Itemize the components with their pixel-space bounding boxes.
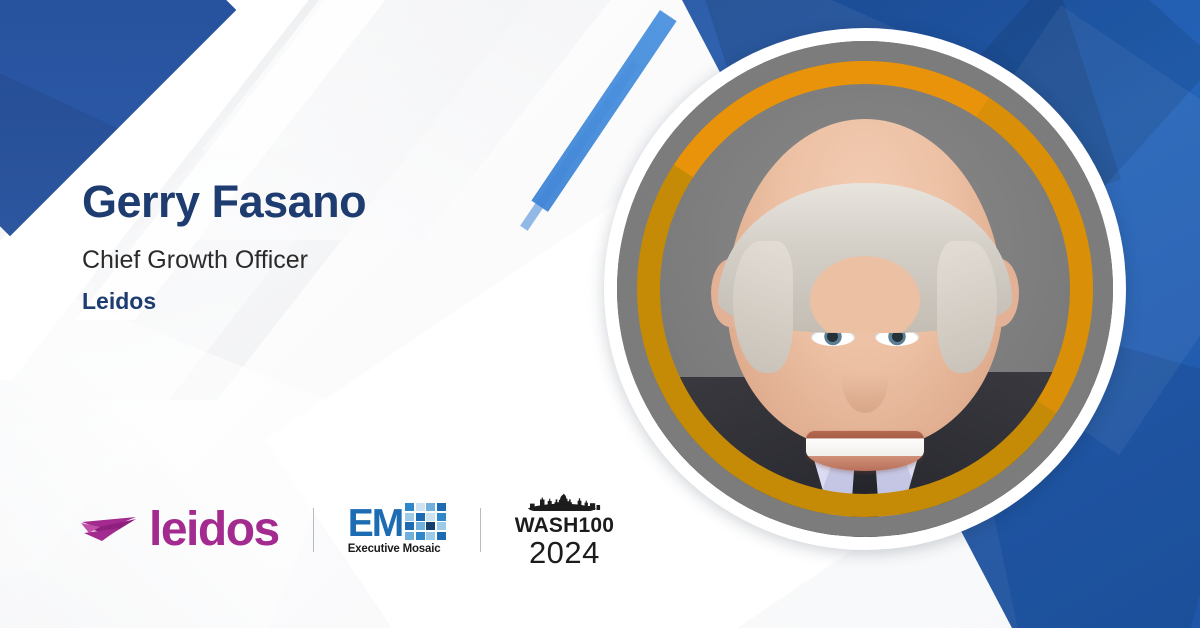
person-job-title: Chief Growth Officer — [82, 245, 366, 275]
executive-mosaic-subtitle: Executive Mosaic — [348, 544, 441, 556]
executive-mosaic-letters: EM — [348, 507, 403, 541]
portrait-nose — [842, 347, 888, 413]
portrait-hair-side-right — [937, 241, 997, 373]
page-title: Gerry Fasano — [82, 178, 366, 225]
leidos-swoosh-icon — [80, 513, 138, 547]
logo-strip: leidos EM Executive Mosaic — [80, 490, 614, 570]
logo-divider — [480, 508, 481, 552]
logo-divider — [313, 508, 314, 552]
person-organization: Leidos — [82, 288, 366, 316]
portrait-mouth — [806, 431, 924, 471]
portrait-circle — [604, 28, 1126, 550]
capitol-skyline-icon — [516, 490, 612, 517]
executive-spotlight-banner: Gerry Fasano Chief Growth Officer Leidos… — [0, 0, 1200, 628]
person-text-block: Gerry Fasano Chief Growth Officer Leidos — [82, 178, 366, 316]
logo-wash100[interactable]: WASH100 2024 — [515, 490, 614, 570]
logo-leidos[interactable]: leidos — [80, 506, 279, 554]
wash100-year: 2024 — [529, 537, 600, 570]
portrait-hair-side-left — [733, 241, 793, 373]
leidos-wordmark: leidos — [149, 506, 279, 554]
portrait-image — [617, 41, 1113, 537]
mosaic-grid-icon — [405, 503, 446, 540]
logo-executive-mosaic[interactable]: EM Executive Mosaic — [348, 505, 446, 556]
wash100-wordmark: WASH100 — [515, 515, 614, 536]
